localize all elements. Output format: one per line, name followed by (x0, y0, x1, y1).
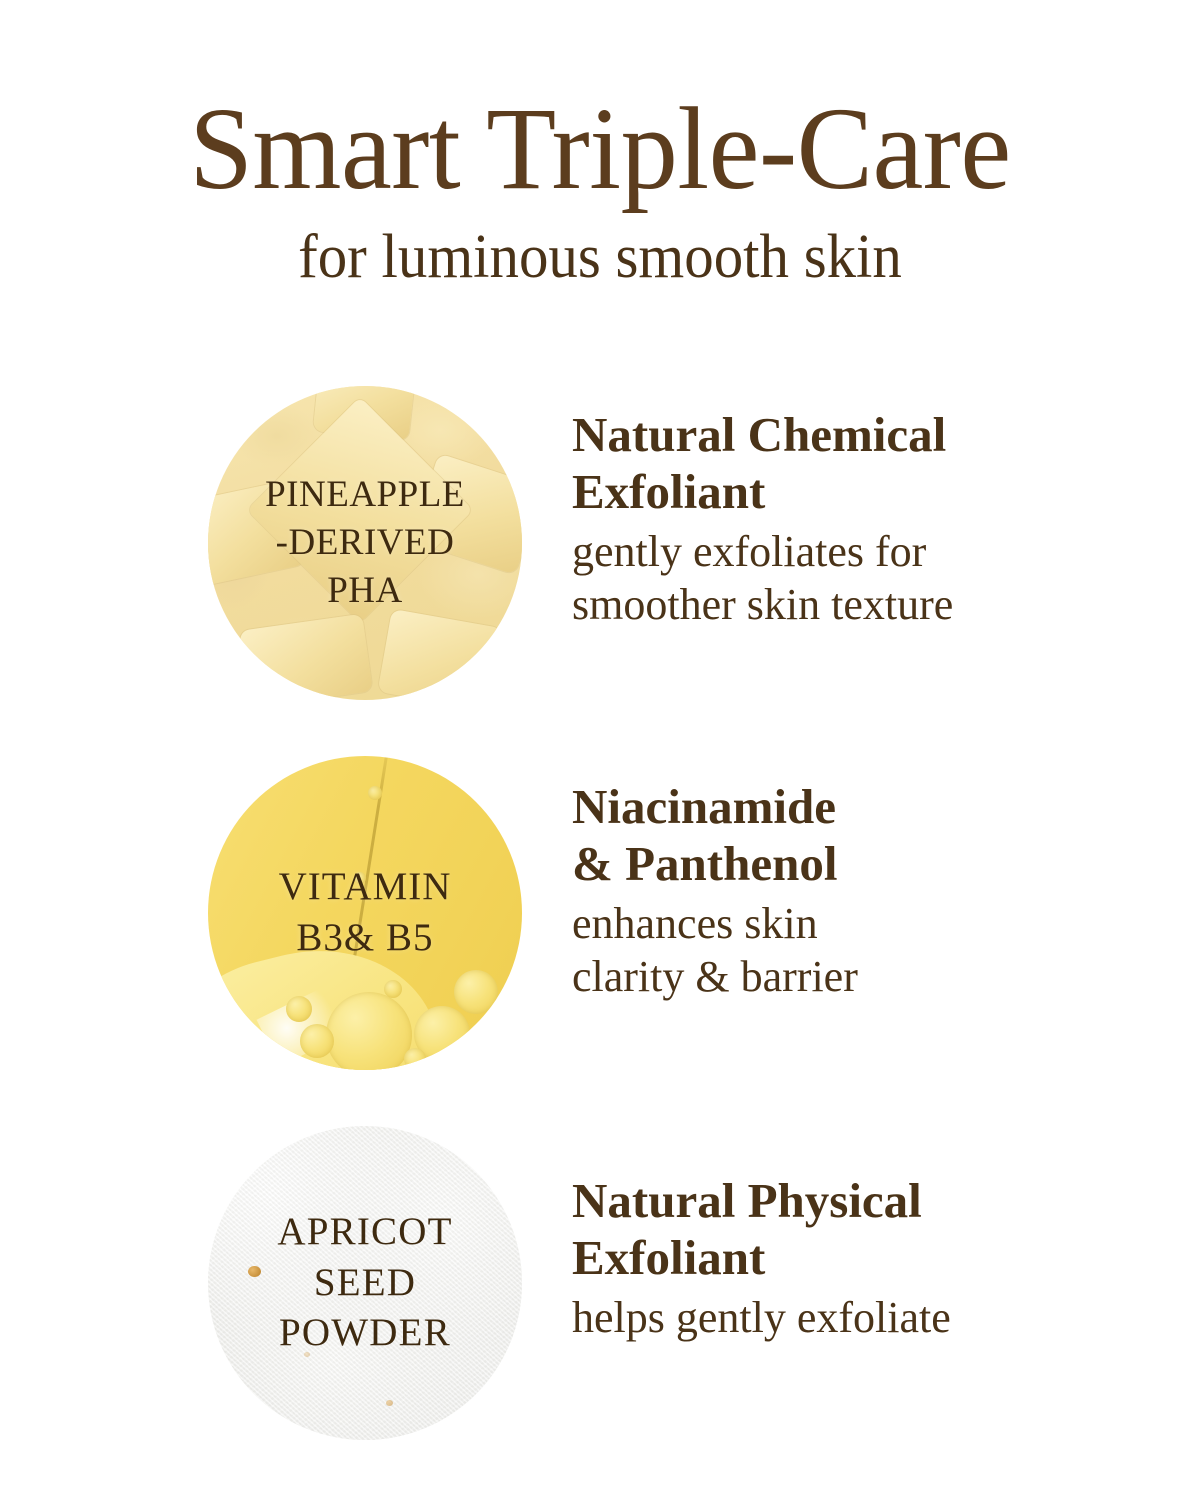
ingredient-badge-apricot: APRICOT SEED POWDER (208, 1126, 522, 1440)
ingredient-badge-vitamin: VITAMIN B3& B5 (208, 756, 522, 1070)
benefit-copy: Niacinamide & Panthenol enhances skin cl… (522, 756, 1200, 1004)
ingredient-label: APRICOT SEED POWDER (277, 1207, 452, 1359)
ingredient-label: PINEAPPLE -DERIVED PHA (265, 471, 465, 615)
header: Smart Triple-Care for luminous smooth sk… (0, 0, 1200, 290)
benefit-copy: Natural Physical Exfoliant helps gently … (522, 1126, 1200, 1344)
benefit-heading: Niacinamide & Panthenol (572, 778, 1200, 893)
benefit-row: APRICOT SEED POWDER Natural Physical Exf… (0, 1126, 1200, 1496)
ingredient-label: VITAMIN B3& B5 (279, 862, 452, 963)
benefit-description: helps gently exfoliate (572, 1291, 1200, 1345)
benefit-list: PINEAPPLE -DERIVED PHA Natural Chemical … (0, 386, 1200, 1496)
page-subtitle: for luminous smooth skin (30, 225, 1170, 291)
benefit-copy: Natural Chemical Exfoliant gently exfoli… (522, 386, 1200, 632)
benefit-heading: Natural Chemical Exfoliant (572, 406, 1200, 521)
benefit-row: PINEAPPLE -DERIVED PHA Natural Chemical … (0, 386, 1200, 756)
benefit-heading: Natural Physical Exfoliant (572, 1172, 1200, 1287)
ingredient-circle: VITAMIN B3& B5 (208, 756, 522, 1070)
ingredient-circle: APRICOT SEED POWDER (208, 1126, 522, 1440)
benefit-description: gently exfoliates for smoother skin text… (572, 525, 1200, 632)
benefit-row: VITAMIN B3& B5 Niacinamide & Panthenol e… (0, 756, 1200, 1126)
benefit-description: enhances skin clarity & barrier (572, 897, 1200, 1004)
ingredient-badge-pineapple: PINEAPPLE -DERIVED PHA (208, 386, 522, 700)
page-title: Smart Triple-Care (18, 88, 1182, 211)
ingredient-circle: PINEAPPLE -DERIVED PHA (208, 386, 522, 700)
product-benefits-infographic: Smart Triple-Care for luminous smooth sk… (0, 0, 1200, 1500)
